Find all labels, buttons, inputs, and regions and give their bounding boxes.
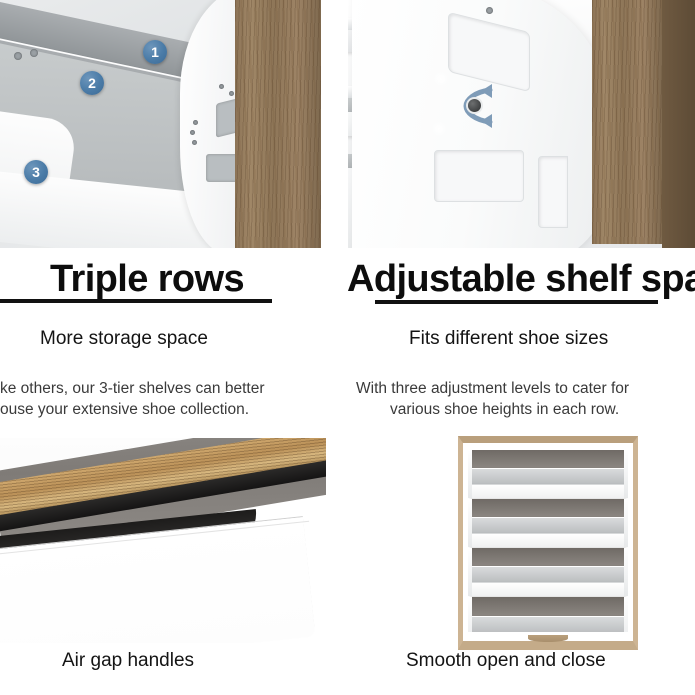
- drawer-4-post-right: [624, 597, 628, 632]
- drawer-1-front: [470, 484, 626, 498]
- drawer-3-tray: [472, 566, 624, 582]
- screw-hole-3: [193, 120, 198, 125]
- triple-rows-divider: [0, 299, 272, 303]
- photo-triple-rows-shelf: [0, 0, 332, 248]
- drawer-3-cavity: [468, 548, 628, 567]
- drawer-3-post-left: [468, 548, 472, 596]
- number-badge-2-icon: 2: [80, 71, 104, 95]
- drawer-1-cavity: [468, 450, 628, 469]
- product-feature-infographic: 1 2 3 Triple rows More storage: [0, 0, 695, 695]
- drawer-2-cavity: [468, 499, 628, 518]
- drawer-1-post-left: [468, 450, 472, 498]
- highlight-glint-2: [430, 122, 448, 136]
- drawer-3-post-right: [624, 548, 628, 596]
- photo-full-shoe-cabinet: [458, 436, 638, 650]
- triple-rows-headline: Triple rows: [50, 258, 244, 301]
- drawer-4-post-left: [468, 597, 472, 632]
- cabinet-interior: [468, 450, 628, 632]
- adjustable-shelf-subhead: Fits different shoe sizes: [409, 328, 608, 350]
- adjustable-shelf-headline: Adjustable shelf space: [347, 258, 695, 301]
- drawer-1-tray: [472, 468, 624, 484]
- wood-side-panel: [235, 0, 321, 248]
- screw-hole-4: [190, 130, 195, 135]
- air-gap-caption: Air gap handles: [62, 650, 194, 672]
- cabinet-drawer-1: [468, 450, 628, 498]
- drawer-4-cavity: [468, 597, 628, 617]
- triple-rows-body-line-1: ke others, our 3-tier shelves can better: [0, 378, 265, 399]
- photo-air-gap-handle: [0, 438, 326, 643]
- adjust-wood-panel: [592, 0, 662, 244]
- drawer-4-tray: [472, 616, 624, 632]
- drawer-2-front: [470, 533, 626, 547]
- adjust-screw-hole: [486, 7, 493, 14]
- number-badge-3-icon: 3: [24, 160, 48, 184]
- photo-right-margin: [321, 0, 332, 248]
- cabinet-base-notch: [528, 635, 568, 642]
- drawer-3-front: [470, 582, 626, 596]
- cabinet-drawer-2: [468, 499, 628, 547]
- screw-hole-2: [229, 91, 234, 96]
- screw-hole-6: [14, 52, 22, 60]
- number-badge-1-icon: 1: [143, 40, 167, 64]
- triple-rows-subhead: More storage space: [40, 328, 208, 350]
- drawer-2-post-left: [468, 499, 472, 547]
- adjust-wood-shadow-edge: [662, 0, 695, 248]
- screw-hole-7: [30, 49, 38, 57]
- adjustable-shelf-divider: [375, 300, 658, 304]
- photo-adjustable-shelf: [348, 0, 695, 248]
- drawer-2-post-right: [624, 499, 628, 547]
- triple-rows-body-line-2: ouse your extensive shoe collection.: [0, 399, 249, 420]
- highlight-glint-1: [432, 72, 450, 86]
- adjustable-shelf-body-line-2: various shoe heights in each row.: [390, 399, 619, 420]
- adjust-pivot-screw-icon: [468, 99, 481, 112]
- drawer-1-post-right: [624, 450, 628, 498]
- drawer-2-tray: [472, 517, 624, 533]
- adjust-slot-2: [434, 150, 524, 202]
- cabinet-drawer-3: [468, 548, 628, 596]
- cabinet-drawer-4: [468, 597, 628, 632]
- smooth-open-caption: Smooth open and close: [406, 650, 606, 672]
- screw-hole-5: [192, 140, 197, 145]
- screw-hole-1: [219, 84, 224, 89]
- adjust-slot-3: [538, 156, 568, 228]
- cabinet-frame: [458, 436, 638, 650]
- adjustable-shelf-body-line-1: With three adjustment levels to cater fo…: [356, 378, 629, 399]
